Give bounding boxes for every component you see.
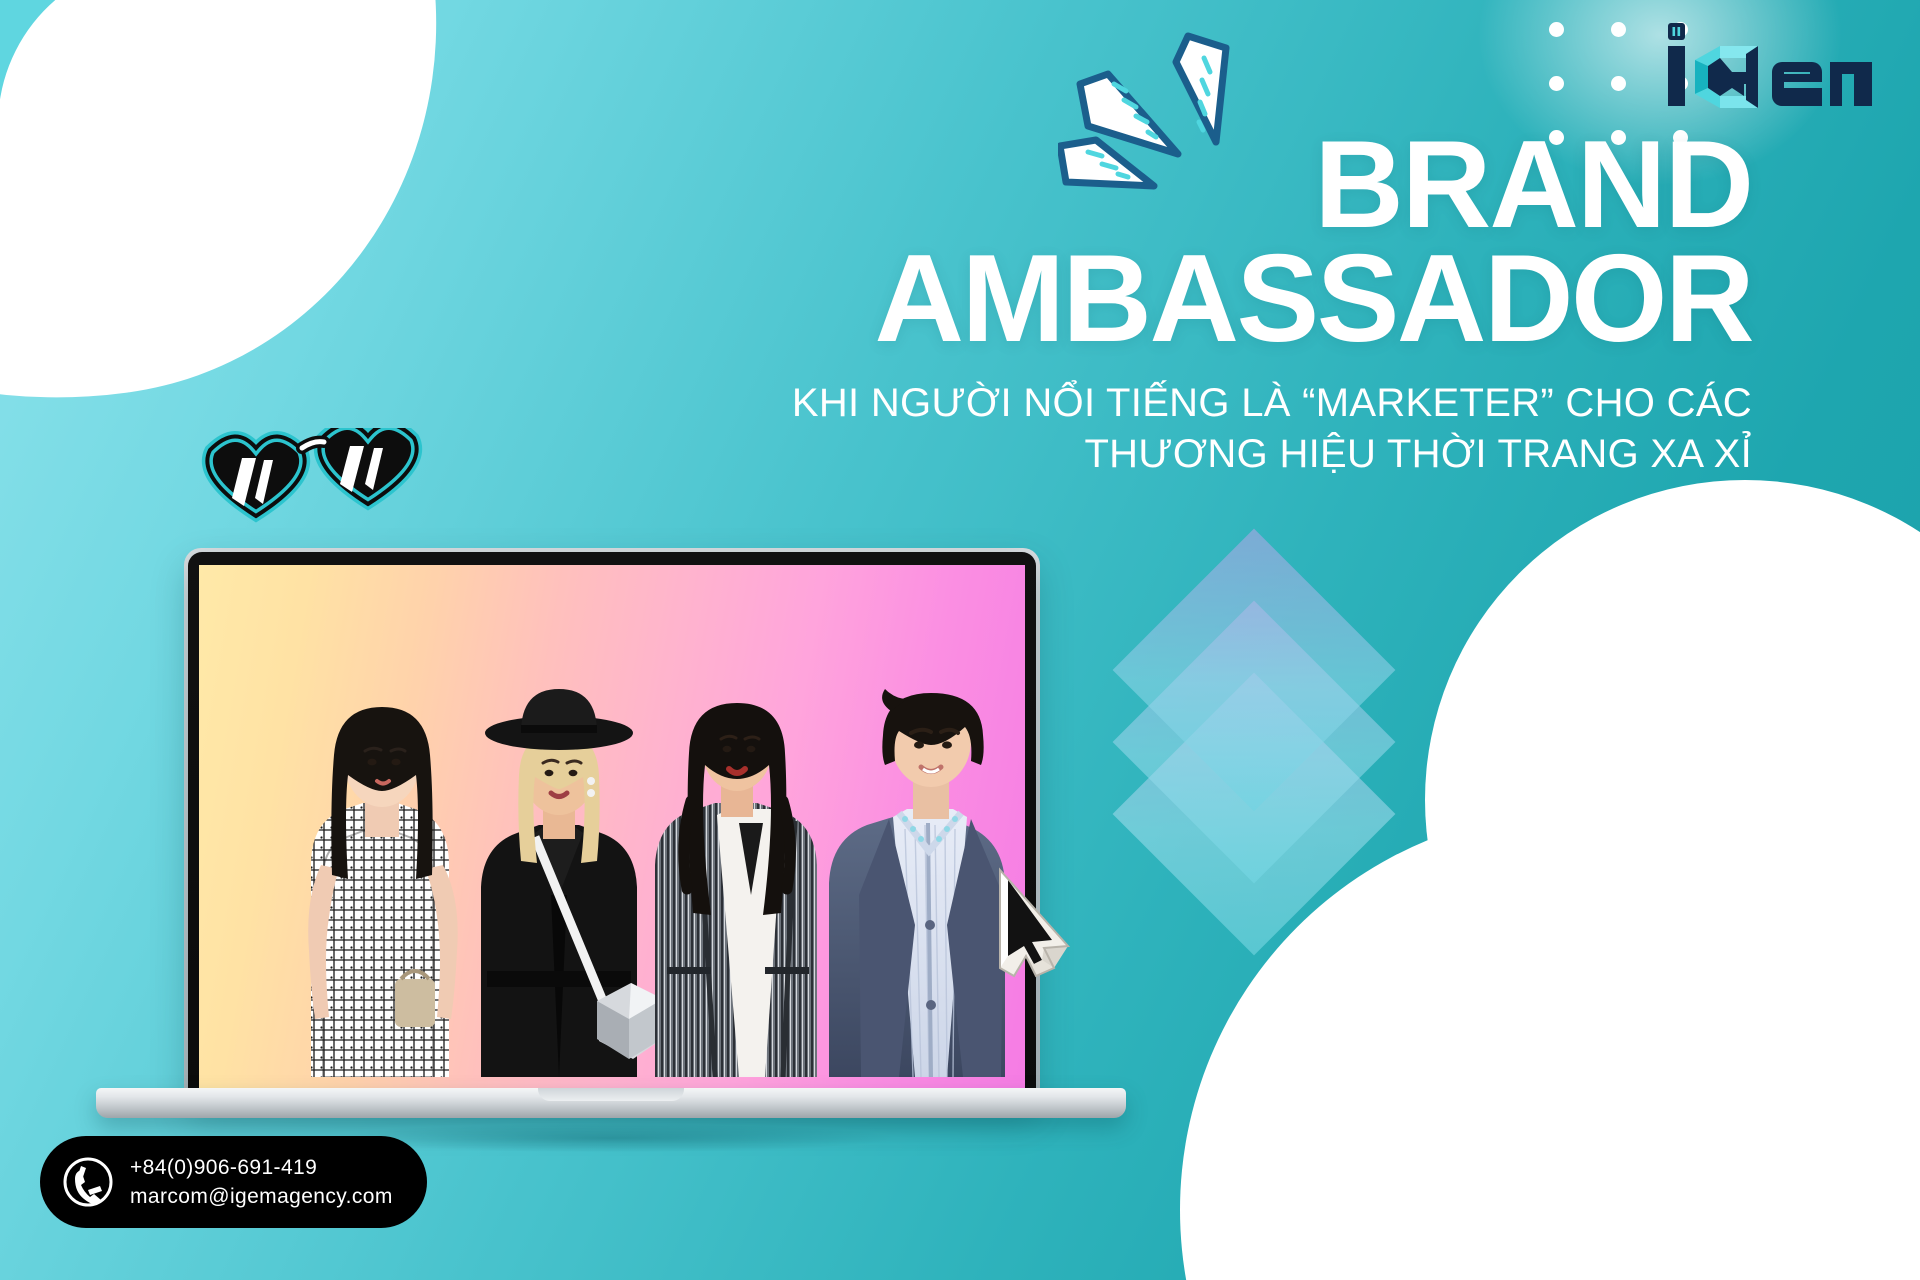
title-line-2: AMBASSADOR: [560, 242, 1752, 356]
celebrity-figure-3: [655, 703, 817, 1077]
confetti-shards-icon: [1058, 22, 1268, 192]
celebrity-group-photo: [199, 565, 1025, 1077]
contact-pill[interactable]: +84(0)906-691-419 marcom@igemagency.com: [40, 1136, 427, 1228]
laptop-base-notch: [538, 1088, 684, 1101]
white-blob-shape: [0, 0, 485, 451]
laptop-base-bar: [96, 1088, 1126, 1118]
dot-grid-3x2-icon: [1426, 1000, 1565, 1069]
white-glow-bottom-right: [1380, 920, 1920, 1280]
igem-logo[interactable]: iGem: [1662, 18, 1872, 114]
gem-logo-mark: [1662, 18, 1872, 114]
phone-circle-icon: [62, 1156, 114, 1208]
celebrity-figure-4: [829, 689, 1005, 1077]
contact-email[interactable]: marcom@igemagency.com: [130, 1184, 393, 1209]
stacked-diamonds-shape: [1140, 570, 1440, 950]
contact-text-block: +84(0)906-691-419 marcom@igemagency.com: [130, 1155, 393, 1208]
poster-canvas: iGem BRAND AMBASSADOR KHI NGƯỜI NỔI TIẾN…: [0, 0, 1920, 1280]
laptop-lid: [188, 552, 1036, 1104]
subtitle-line-1: KHI NGƯỜI NỔI TIẾNG LÀ “MARKETER” CHO CÁ…: [560, 378, 1752, 429]
teal-hook-swoosh: [0, 0, 270, 232]
laptop-screen: [199, 565, 1025, 1090]
page-subtitle: KHI NGƯỜI NỔI TIẾNG LÀ “MARKETER” CHO CÁ…: [560, 378, 1752, 480]
celebrity-figure-1: [308, 707, 458, 1077]
subtitle-line-2: THƯƠNG HIỆU THỜI TRANG XA XỈ: [560, 429, 1752, 480]
celebrity-figure-2: [481, 689, 665, 1077]
contact-phone[interactable]: +84(0)906-691-419: [130, 1155, 393, 1180]
pixel-mouse-cursor-icon: [986, 864, 1106, 994]
white-circle-bottom-right: [1180, 810, 1920, 1280]
white-circle-right: [1425, 480, 1920, 1120]
laptop-mockup: [96, 552, 1126, 1132]
laptop-base: [96, 1088, 1126, 1132]
heart-sunglasses-icon: [144, 428, 424, 578]
